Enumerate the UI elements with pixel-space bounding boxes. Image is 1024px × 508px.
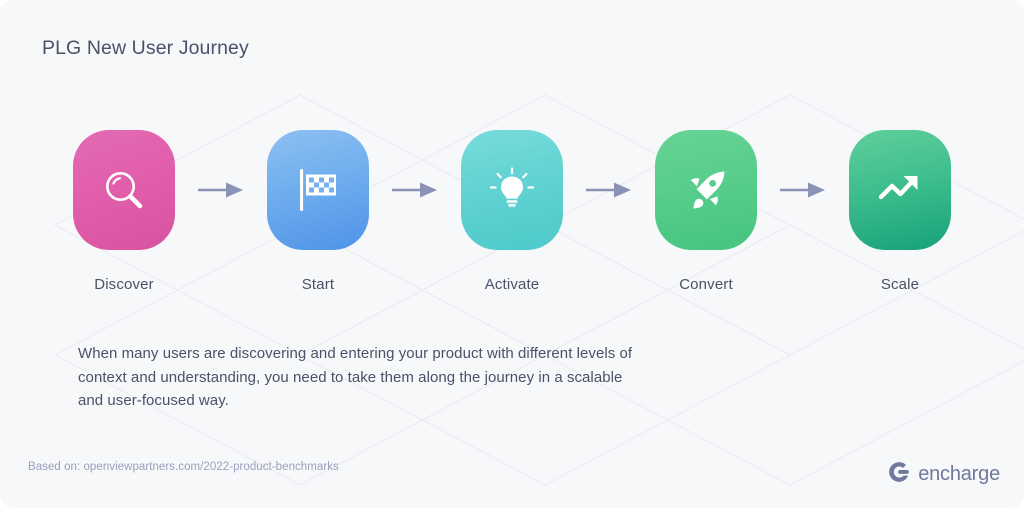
journey-tile-activate[interactable] (461, 130, 563, 250)
journey-tile-scale[interactable] (849, 130, 951, 250)
journey-step-label: Discover (94, 276, 154, 293)
journey-step-label: Scale (881, 276, 919, 293)
connector-arrow-3 (580, 130, 638, 250)
magnifier-icon (97, 163, 151, 217)
journey-tile-start[interactable] (267, 130, 369, 250)
connector-arrow-2 (386, 130, 444, 250)
journey-step-scale[interactable]: Scale (836, 130, 964, 293)
journey-step-convert[interactable]: Convert (642, 130, 770, 293)
lightbulb-icon (485, 163, 539, 217)
journey-tile-convert[interactable] (655, 130, 757, 250)
connector-arrow-4 (774, 130, 832, 250)
brand-name: encharge (918, 463, 1000, 486)
journey-step-label: Convert (679, 276, 733, 293)
trending-up-icon (873, 163, 927, 217)
rocket-icon (679, 163, 733, 217)
journey-step-start[interactable]: Start (254, 130, 382, 293)
encharge-logo-icon (887, 460, 911, 489)
connector-arrow-1 (192, 130, 250, 250)
page-title: PLG New User Journey (42, 37, 249, 60)
journey-steps: Discover (60, 130, 964, 300)
journey-step-label: Activate (485, 276, 540, 293)
journey-step-label: Start (302, 276, 334, 293)
journey-step-activate[interactable]: Activate (448, 130, 576, 293)
brand-logo: encharge (887, 460, 1000, 489)
infographic-canvas: PLG New User Journey Discover (0, 0, 1024, 508)
source-note: Based on: openviewpartners.com/2022-prod… (28, 461, 339, 473)
journey-tile-discover[interactable] (73, 130, 175, 250)
description-text: When many users are discovering and ente… (78, 342, 638, 413)
journey-step-discover[interactable]: Discover (60, 130, 188, 293)
checkered-flag-icon (291, 163, 345, 217)
